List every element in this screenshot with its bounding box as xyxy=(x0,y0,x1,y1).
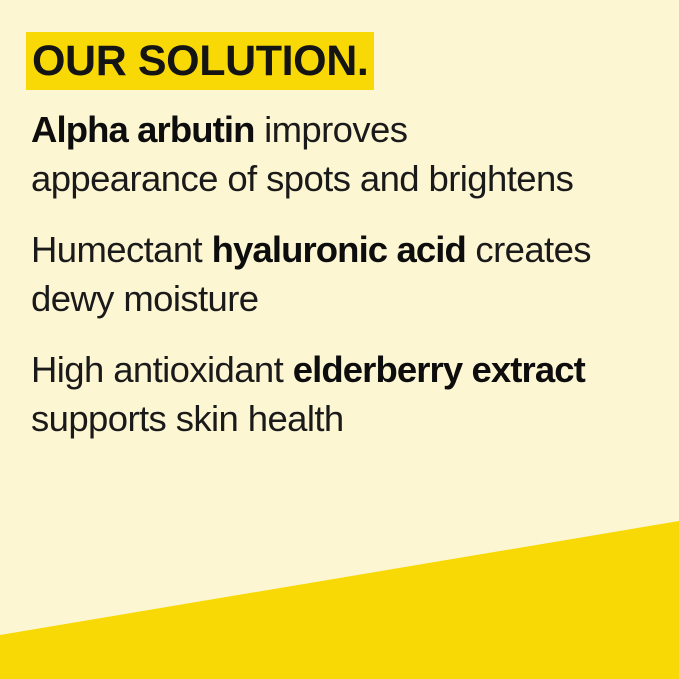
headline-highlighted-text: OUR SOLUTION. xyxy=(31,37,369,85)
benefit-item-hyaluronic-acid: Humectant hyaluronic acid creates dewy m… xyxy=(31,225,591,323)
page-title: OUR SOLUTION. xyxy=(31,40,631,83)
benefit-ingredient-name: Alpha arbutin xyxy=(31,109,255,150)
benefit-description-prefix: Humectant xyxy=(31,229,212,270)
benefit-item-elderberry-extract: High antioxidant elderberry extract supp… xyxy=(31,345,606,443)
benefit-description-prefix: High antioxidant xyxy=(31,349,293,390)
diagonal-band-shape xyxy=(0,521,679,679)
benefit-ingredient-name: hyaluronic acid xyxy=(212,229,466,270)
benefit-item-alpha-arbutin: Alpha arbutin improves appearance of spo… xyxy=(31,105,591,203)
promo-card: OUR SOLUTION. Alpha arbutin improves app… xyxy=(0,0,679,679)
benefit-ingredient-name: elderberry extract xyxy=(293,349,585,390)
benefit-description-suffix: supports skin health xyxy=(31,398,344,439)
content-column: OUR SOLUTION. Alpha arbutin improves app… xyxy=(31,40,631,443)
